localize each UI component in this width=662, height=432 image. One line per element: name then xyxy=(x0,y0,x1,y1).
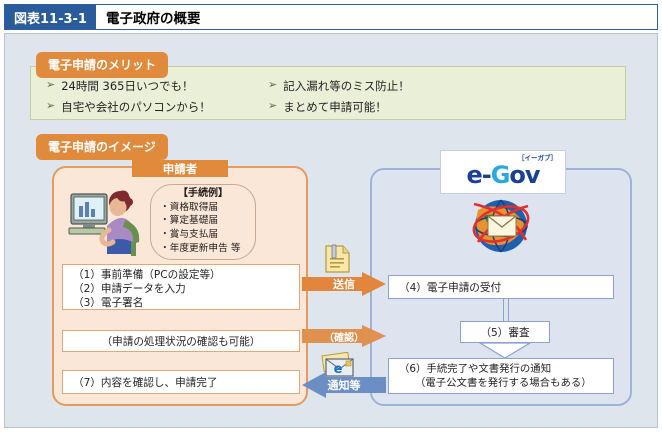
arrow-send: 送信 xyxy=(302,272,386,296)
merits-tab-label: 電子申請のメリット xyxy=(36,52,168,78)
bullet-arrow-icon: ➢ xyxy=(268,99,277,113)
procedure-examples-box: 【手続例】 ・資格取得届 ・算定基礎届 ・賞与支払届 ・年度更新申告 等 xyxy=(150,184,256,260)
merit-item-label: 自宅や会社のパソコンから！ xyxy=(61,99,211,115)
egov-logo: ［イーガブ］ e - G ov xyxy=(440,150,566,194)
person-at-computer-icon xyxy=(63,186,143,258)
gov-step-4-label: （4）電子申請の受付 xyxy=(399,280,501,295)
procedure-item: ・賞与支払届 xyxy=(151,228,218,242)
down-arrow-icon xyxy=(474,343,536,359)
merit-item-label: 記入漏れ等のミス防止！ xyxy=(283,78,410,94)
applicant-final-step-box: （7）内容を確認し、申請完了 xyxy=(62,370,300,394)
applicant-tab-label: 申請者 xyxy=(132,160,228,177)
gov-step-4-box: （4）電子申請の受付 xyxy=(388,275,614,299)
egov-logo-g: G xyxy=(491,161,510,189)
connector-line-4-to-5 xyxy=(503,299,509,321)
procedure-item: ・年度更新申告 等 xyxy=(151,242,241,256)
status-check-note-box: （申請の処理状況の確認も可能） xyxy=(62,330,300,352)
bullet-arrow-icon: ➢ xyxy=(46,99,55,113)
merit-item-label: まとめて申請可能！ xyxy=(283,99,387,115)
procedure-examples-title: 【手続例】 xyxy=(178,187,228,201)
procedure-item: ・資格取得届 xyxy=(151,201,218,215)
gov-step-5-box: （5）審査 xyxy=(460,321,550,343)
egov-logo-ruby: ［イーガブ］ xyxy=(518,152,557,162)
figure-title: 電子政府の概要 xyxy=(96,5,201,29)
egov-logo-wordmark: e - G ov xyxy=(466,161,539,189)
image-section-tab-label: 電子申請のイメージ xyxy=(36,134,168,160)
arrow-notify: 通知等 xyxy=(302,372,386,398)
merit-item-label: 24時間 365日いつでも！ xyxy=(61,78,193,94)
status-check-note: （申請の処理状況の確認も可能） xyxy=(102,334,261,349)
applicant-steps-box: （1）事前準備（PCの設定等） （2）申請データを入力 （3）電子署名 xyxy=(62,264,300,310)
applicant-step: （1）事前準備（PCの設定等） xyxy=(73,269,299,283)
egov-logo-dash: - xyxy=(482,161,491,189)
merit-item: ➢ 記入漏れ等のミス防止！ xyxy=(268,78,616,94)
gov-notification-line1: （6）手続完了や文書発行の通知 xyxy=(399,362,551,376)
merit-item: ➢ 自宅や会社のパソコンから！ xyxy=(46,99,268,115)
applicant-final-step: （7）内容を確認し、申請完了 xyxy=(73,375,217,390)
gov-notification-box: （6）手続完了や文書発行の通知 （電子公文書を発行する場合もある） xyxy=(388,358,614,394)
figure-title-bar: 図表11-3-1 電子政府の概要 xyxy=(4,4,658,30)
bullet-arrow-icon: ➢ xyxy=(46,78,55,92)
merits-list: ➢ 24時間 365日いつでも！ ➢ 記入漏れ等のミス防止！ ➢ 自宅や会社のパ… xyxy=(46,78,616,115)
procedure-item: ・算定基礎届 xyxy=(151,214,218,228)
merit-item: ➢ まとめて申請可能！ xyxy=(268,99,616,115)
document-pen-icon xyxy=(322,244,352,274)
applicant-step: （3）電子署名 xyxy=(73,297,299,311)
figure-page: 図表11-3-1 電子政府の概要 電子申請のメリット ➢ 24時間 365日いつ… xyxy=(0,0,662,432)
arrow-confirm: （確認） xyxy=(302,325,386,347)
figure-number: 図表11-3-1 xyxy=(5,5,96,29)
merit-item: ➢ 24時間 365日いつでも！ xyxy=(46,78,268,94)
bullet-arrow-icon: ➢ xyxy=(268,78,277,92)
globe-envelope-icon xyxy=(460,192,542,254)
egov-logo-e: e xyxy=(466,161,481,189)
egov-logo-ov: ov xyxy=(509,161,539,189)
applicant-step: （2）申請データを入力 xyxy=(73,283,299,297)
gov-notification-line2: （電子公文書を発行する場合もある） xyxy=(399,376,592,390)
gov-step-5-label: （5）審査 xyxy=(480,325,529,340)
